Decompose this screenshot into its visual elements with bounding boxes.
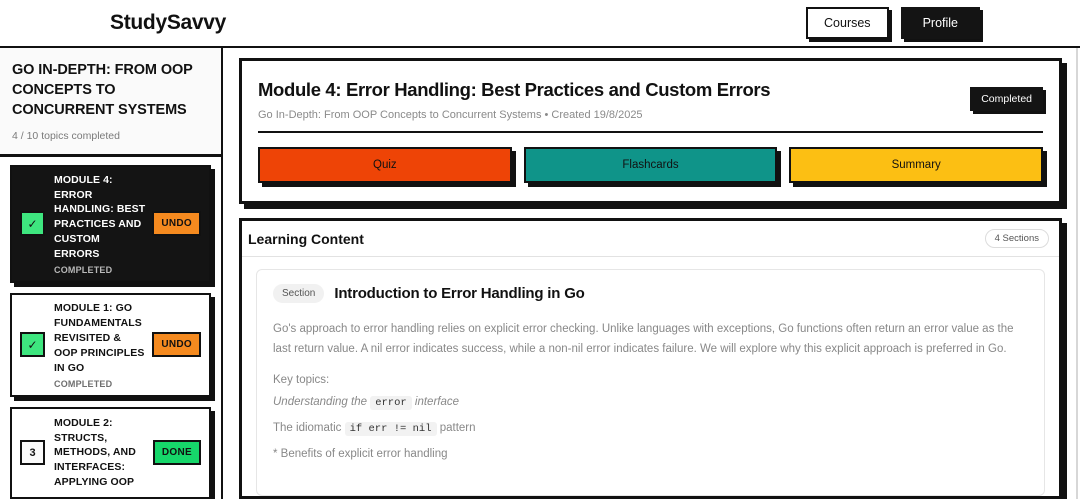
key-topic-text-tail: interface — [412, 396, 459, 408]
app-root: StudySavvy Courses Profile GO IN-DEPTH: … — [0, 0, 1080, 499]
module-header-top: Module 4: Error Handling: Best Practices… — [258, 79, 1043, 121]
section-title-row: Section Introduction to Error Handling i… — [273, 284, 1028, 303]
summary-button[interactable]: Summary — [789, 147, 1043, 183]
key-topic-item: Understanding the error interface — [273, 393, 1028, 412]
learning-content-card: Learning Content 4 Sections Section Intr… — [239, 218, 1062, 499]
status-badge: Completed — [970, 87, 1043, 111]
course-sidebar: GO IN-DEPTH: FROM OOP CONCEPTS TO CONCUR… — [0, 48, 223, 499]
key-topic-text: * Benefits of explicit error handling — [273, 448, 448, 460]
main-content: Module 4: Error Handling: Best Practices… — [223, 48, 1080, 499]
module-card-body: MODULE 1: GO FUNDAMENTALS REVISITED & OO… — [52, 301, 145, 389]
module-check-icon[interactable]: ✓ — [20, 332, 45, 357]
section-tag: Section — [273, 284, 324, 303]
quiz-button[interactable]: Quiz — [258, 147, 512, 183]
flashcards-button[interactable]: Flashcards — [524, 147, 778, 183]
top-navbar: StudySavvy Courses Profile — [0, 0, 1080, 48]
key-topics-label: Key topics: — [273, 374, 1028, 386]
inline-code: error — [370, 396, 412, 410]
courses-button[interactable]: Courses — [806, 7, 889, 39]
key-topic-text: The idiomatic — [273, 422, 345, 434]
module-undo-button[interactable]: UNDO — [152, 211, 201, 236]
module-check-icon[interactable]: ✓ — [20, 211, 45, 236]
sections-count-badge: 4 Sections — [985, 229, 1049, 248]
module-card-title: MODULE 2: STRUCTS, METHODS, AND INTERFAC… — [54, 416, 146, 491]
key-topic-text-tail: pattern — [437, 422, 476, 434]
module-list[interactable]: ✓MODULE 4: ERROR HANDLING: BEST PRACTICE… — [0, 157, 221, 499]
section-paragraph: Go's approach to error handling relies o… — [273, 319, 1028, 360]
key-topic-item: * Benefits of explicit error handling — [273, 445, 1028, 463]
learning-content-title: Learning Content — [248, 231, 364, 247]
module-card-status: COMPLETED — [54, 379, 145, 389]
module-subtitle: Go In-Depth: From OOP Concepts to Concur… — [258, 109, 970, 121]
module-card-body: MODULE 4: ERROR HANDLING: BEST PRACTICES… — [52, 173, 145, 275]
module-card-title: MODULE 1: GO FUNDAMENTALS REVISITED & OO… — [54, 301, 145, 376]
module-card[interactable]: 3MODULE 2: STRUCTS, METHODS, AND INTERFA… — [10, 407, 211, 499]
section-heading: Introduction to Error Handling in Go — [334, 285, 584, 302]
module-title: Module 4: Error Handling: Best Practices… — [258, 79, 970, 101]
learning-content-body: Section Introduction to Error Handling i… — [242, 257, 1059, 496]
module-card-status: COMPLETED — [54, 265, 145, 275]
key-topics-list: Understanding the error interfaceThe idi… — [273, 393, 1028, 463]
inline-code: if err != nil — [345, 422, 437, 436]
body-split: GO IN-DEPTH: FROM OOP CONCEPTS TO CONCUR… — [0, 48, 1080, 499]
module-done-button[interactable]: DONE — [153, 440, 201, 465]
module-card[interactable]: ✓MODULE 1: GO FUNDAMENTALS REVISITED & O… — [10, 293, 211, 397]
module-header-divider — [258, 131, 1043, 133]
main-scrollbar[interactable] — [1076, 48, 1078, 499]
module-card[interactable]: ✓MODULE 4: ERROR HANDLING: BEST PRACTICE… — [10, 165, 211, 283]
section-block[interactable]: Section Introduction to Error Handling i… — [256, 269, 1045, 496]
key-topic-text: Understanding the — [273, 396, 370, 408]
module-header-card: Module 4: Error Handling: Best Practices… — [239, 58, 1062, 204]
profile-button[interactable]: Profile — [901, 7, 980, 39]
learning-content-header: Learning Content 4 Sections — [242, 221, 1059, 257]
module-card-title: MODULE 4: ERROR HANDLING: BEST PRACTICES… — [54, 173, 145, 262]
course-progress-text: 4 / 10 topics completed — [12, 130, 209, 142]
course-title: GO IN-DEPTH: FROM OOP CONCEPTS TO CONCUR… — [12, 60, 209, 120]
course-summary: GO IN-DEPTH: FROM OOP CONCEPTS TO CONCUR… — [0, 48, 221, 157]
module-header-texts: Module 4: Error Handling: Best Practices… — [258, 79, 970, 121]
key-topic-item: The idiomatic if err != nil pattern — [273, 419, 1028, 438]
module-number-badge[interactable]: 3 — [20, 440, 45, 465]
module-undo-button[interactable]: UNDO — [152, 332, 201, 357]
topbar-actions: Courses Profile — [806, 7, 1062, 39]
module-action-row[interactable]: QuizFlashcardsSummary — [258, 147, 1043, 183]
module-card-body: MODULE 2: STRUCTS, METHODS, AND INTERFAC… — [52, 416, 146, 491]
app-logo: StudySavvy — [110, 11, 226, 35]
